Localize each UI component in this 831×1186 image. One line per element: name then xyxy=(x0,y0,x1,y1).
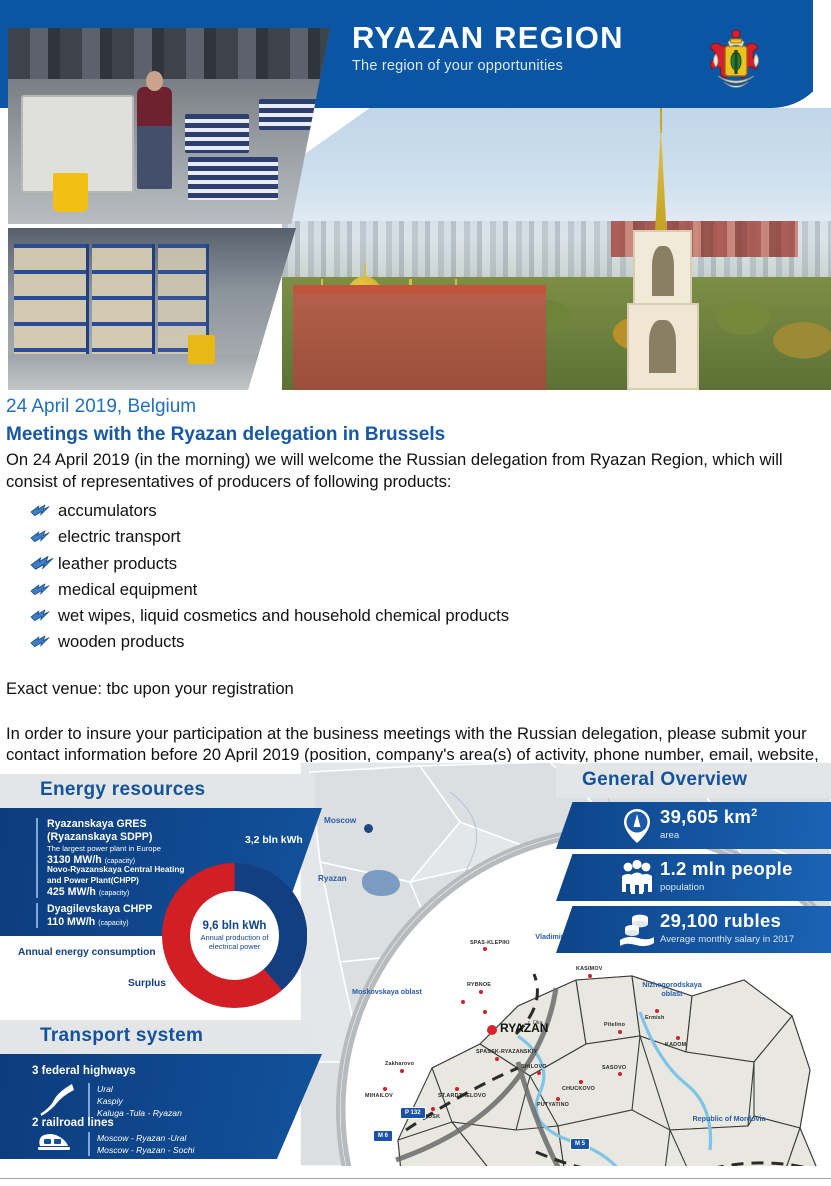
warehouse-photo xyxy=(8,228,308,390)
article-date-location: 24 April 2019, Belgium xyxy=(0,392,831,418)
power-plant-name: Ryazanskaya GRES(Ryazanskaya SDPP) xyxy=(47,818,161,844)
footer-divider xyxy=(0,1178,831,1179)
transport-panel-body: 3 federal highways Ural Kaspiy Kaluga -T… xyxy=(0,1054,322,1159)
city-label: KASIMOV xyxy=(576,966,603,972)
winding-road-icon xyxy=(36,1082,76,1116)
map-label-moscow: Moscow xyxy=(324,816,356,825)
city-label: ST.ARDZHELOVO xyxy=(438,1093,486,1099)
overview-row-population: 1.2 mln people population xyxy=(556,854,831,901)
city-label: CHUCKOVO xyxy=(562,1086,595,1092)
list-item: wet wipes, liquid cosmetics and househol… xyxy=(30,603,831,629)
header-title-block: RYAZAN REGION The region of your opportu… xyxy=(352,22,624,74)
highway-item: Kaspiy xyxy=(97,1095,182,1107)
blue-arrow-bullet-icon xyxy=(30,582,50,596)
power-plant-capacity: 3130 MW/h (capacity) xyxy=(47,854,161,866)
highway-badge: M 6 xyxy=(373,1130,393,1142)
blue-arrow-bullet-icon xyxy=(30,529,50,543)
train-icon xyxy=(36,1132,72,1154)
city-label: MIHAILOV xyxy=(365,1093,393,1099)
map-label-republic-of-mordovia: Republic of Mordovia xyxy=(690,1114,768,1123)
list-item: accumulators xyxy=(30,498,831,524)
railroad-item: Moscow - Ryazan -Ural xyxy=(97,1132,194,1144)
city-label: Ermish xyxy=(645,1015,664,1021)
people-group-icon xyxy=(618,858,656,898)
capacity-note: (capacity) xyxy=(105,858,135,865)
power-plant-desc: The largest power plant in Europe xyxy=(47,844,161,854)
power-plant-entry: Dyagilevskaya CHPP 110 MW/h (capacity) xyxy=(36,903,152,928)
energy-panel-header: Energy resources xyxy=(0,774,315,808)
overview-value: 39,605 km2 xyxy=(660,806,758,828)
capacity-note: (capacity) xyxy=(99,890,129,897)
railroads-title: 2 railroad lines xyxy=(32,1116,114,1129)
overview-label: area xyxy=(660,830,679,841)
city-label: SPAS-KLEPIKI xyxy=(470,940,510,946)
energy-donut-chart: 9,6 bln kWh Annual production of electri… xyxy=(162,863,307,1008)
capacity-value: 425 MW/h xyxy=(47,886,96,898)
venue-note: Exact venue: tbc upon your registration xyxy=(0,677,831,700)
blue-arrow-bullet-icon xyxy=(30,554,54,571)
capacity-note: (capacity) xyxy=(98,920,128,927)
leader-label-surplus: Surplus xyxy=(128,978,166,989)
product-label: medical equipment xyxy=(58,580,197,599)
donut-center: 9,6 bln kWh Annual production of electri… xyxy=(190,891,279,980)
article-intro-paragraph: On 24 April 2019 (in the morning) we wil… xyxy=(0,448,831,492)
list-item: electric transport xyxy=(30,524,831,550)
city-label: Pitelino xyxy=(604,1022,625,1028)
page-subtitle: The region of your opportunities xyxy=(352,58,624,74)
overview-value-text: 29,100 rubles xyxy=(660,910,781,931)
overview-row-salary: 29,100 rubles Average monthly salary in … xyxy=(556,906,831,953)
ryazan-kremlin-photo xyxy=(282,108,831,390)
product-list: accumulators electric transport leather … xyxy=(0,498,831,655)
transport-panel-header: Transport system xyxy=(0,1020,315,1054)
city-label: RYBNOE xyxy=(467,982,491,988)
city-label: Zakharovo xyxy=(385,1061,414,1067)
capital-marker xyxy=(487,1025,497,1035)
city-label: SHILOVO xyxy=(521,1064,547,1070)
highway-badge: P 132 xyxy=(400,1107,426,1119)
blue-arrow-bullet-icon xyxy=(30,634,50,648)
overview-label: Average monthly salary in 2017 xyxy=(660,934,794,945)
map-label-moskovskaya-oblast: Moskovskaya oblast xyxy=(352,987,422,996)
leader-label-consumption: Annual energy consumption xyxy=(18,947,156,958)
textile-factory-photo xyxy=(8,28,330,224)
city-label: SASOVO xyxy=(602,1065,626,1071)
map-pin-icon xyxy=(618,806,656,846)
railroad-item: Moscow - Ryazan - Sochi xyxy=(97,1144,194,1156)
hand-with-coins-icon xyxy=(618,910,656,950)
city-label: SPASSK-RYAZANSKIY xyxy=(476,1049,537,1055)
overview-value: 1.2 mln people xyxy=(660,858,793,880)
capital-label: RYAZAN xyxy=(500,1021,548,1035)
product-label: wet wipes, liquid cosmetics and househol… xyxy=(58,606,509,625)
page-title: RYAZAN REGION xyxy=(352,22,624,54)
capacity-value: 3130 MW/h xyxy=(47,854,102,866)
product-label: wooden products xyxy=(58,632,184,651)
transport-panel-title: Transport system xyxy=(40,1025,203,1047)
list-item: leather products xyxy=(30,551,831,577)
product-label: leather products xyxy=(58,554,177,573)
overview-value-text: 39,605 km xyxy=(660,806,751,827)
overview-panel-title: General Overview xyxy=(582,769,747,791)
donut-center-label: Annual production of electrical power xyxy=(190,934,279,952)
product-label: accumulators xyxy=(58,501,157,520)
overview-panel-header: General Overview xyxy=(556,764,831,798)
list-item: medical equipment xyxy=(30,577,831,603)
city-label: KADOM xyxy=(665,1042,686,1048)
donut-center-value: 9,6 bln kWh xyxy=(203,920,267,932)
energy-panel-title: Energy resources xyxy=(40,779,205,801)
map-label-nizhegorodskaya-oblast: Nizhegorodskaya oblast xyxy=(634,980,710,998)
highway-badge: M 5 xyxy=(570,1138,590,1150)
highways-title: 3 federal highways xyxy=(32,1064,136,1077)
overview-value-text: 1.2 mln people xyxy=(660,858,793,879)
overview-row-area: 39,605 km2 area xyxy=(556,802,831,849)
power-plant-name: Dyagilevskaya CHPP xyxy=(47,903,152,916)
product-label: electric transport xyxy=(58,527,181,546)
railroads-list: Moscow - Ryazan -Ural Moscow - Ryazan - … xyxy=(88,1132,194,1156)
blue-arrow-bullet-icon xyxy=(30,608,50,622)
highways-list: Ural Kaspiy Kaluga -Tula - Ryazan xyxy=(88,1083,182,1120)
coat-of-arms-ryazan xyxy=(700,20,772,100)
list-item: wooden products xyxy=(30,629,831,655)
overview-value: 29,100 rubles xyxy=(660,910,781,932)
donut-label-surplus: 3,2 bln kWh xyxy=(245,835,303,846)
overview-label: population xyxy=(660,882,704,893)
power-plant-capacity: 110 MW/h (capacity) xyxy=(47,916,152,928)
overview-value-sup: 2 xyxy=(751,807,757,819)
capacity-value: 110 MW/h xyxy=(47,916,95,928)
highway-item: Ural xyxy=(97,1083,182,1095)
power-plant-entry: Ryazanskaya GRES(Ryazanskaya SDPP) The l… xyxy=(36,818,161,866)
article-body: 24 April 2019, Belgium Meetings with the… xyxy=(0,392,831,788)
article-headline: Meetings with the Ryazan delegation in B… xyxy=(0,418,831,448)
ryazan-infographic: Moscow Ryazan xyxy=(0,762,831,1166)
page-header: RYAZAN REGION The region of your opportu… xyxy=(0,0,831,390)
blue-arrow-bullet-icon xyxy=(30,503,50,517)
city-label: PUTYATINO xyxy=(537,1102,569,1108)
